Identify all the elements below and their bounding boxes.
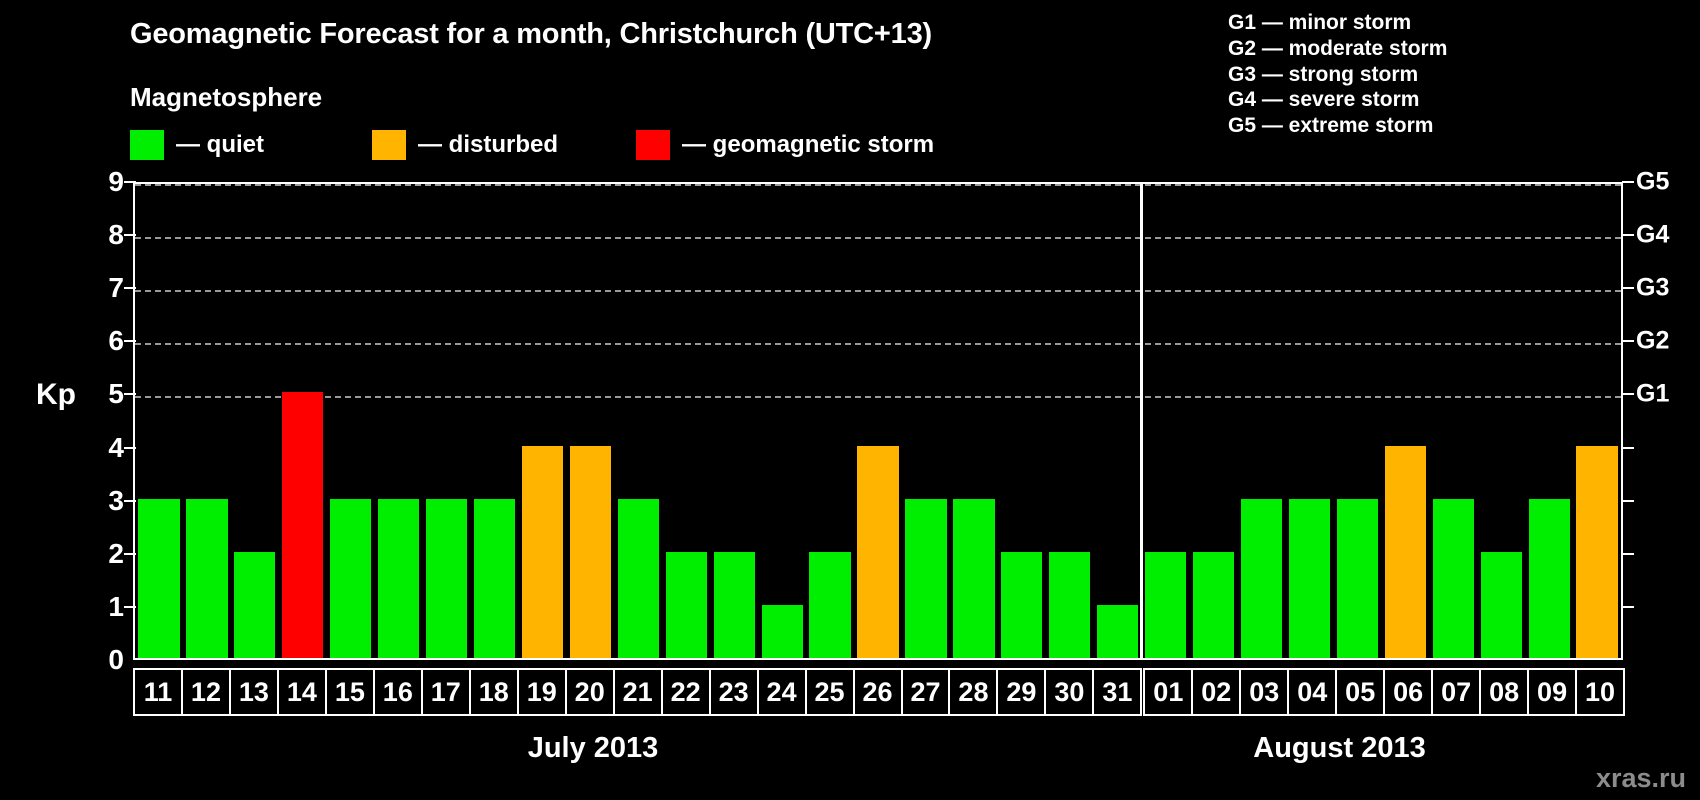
day-label-cell: 12 <box>181 668 231 716</box>
bar-slot <box>614 184 662 658</box>
day-label-cell: 28 <box>948 668 998 716</box>
y-tick-mark-1 <box>124 606 136 608</box>
bar-slot <box>1429 184 1477 658</box>
y-tick-label-0: 0 <box>108 644 124 676</box>
day-label-cell: 17 <box>421 668 471 716</box>
day-label-cell: 02 <box>1191 668 1241 716</box>
bar-slot <box>566 184 614 658</box>
g-tick-label-G3: G3 <box>1636 274 1669 303</box>
y-tick-mark-5 <box>124 393 136 395</box>
bar <box>234 552 275 658</box>
bar <box>1097 605 1138 658</box>
day-label-cell: 07 <box>1431 668 1481 716</box>
g-tick-label-G4: G4 <box>1636 221 1669 250</box>
y-tick-mark-8 <box>124 234 136 236</box>
g-tick-label-G5: G5 <box>1636 168 1669 197</box>
bar-slot <box>1142 184 1190 658</box>
y-tick-mark-6 <box>124 340 136 342</box>
bar <box>282 392 323 658</box>
month-label-august: August 2013 <box>1056 732 1623 765</box>
gscale-row-3: G3 — strong storm <box>1228 62 1447 88</box>
g-tick-mark-kp-9 <box>1622 181 1634 183</box>
day-label-cell: 10 <box>1575 668 1625 716</box>
day-label-cell: 14 <box>277 668 327 716</box>
bar-slot <box>327 184 375 658</box>
bar <box>809 552 850 658</box>
day-label-cell: 13 <box>229 668 279 716</box>
y-tick-mark-4 <box>124 447 136 449</box>
g-tick-mark-kp-2 <box>1622 553 1634 555</box>
day-label-cell: 08 <box>1479 668 1529 716</box>
bar <box>474 499 515 658</box>
watermark: xras.ru <box>1596 763 1686 794</box>
y-axis-labels: 9876543210 <box>78 182 124 660</box>
bar <box>1433 499 1474 658</box>
bar <box>1385 446 1426 658</box>
day-label-cell: 26 <box>853 668 903 716</box>
g-tick-label-G1: G1 <box>1636 380 1669 409</box>
day-label-cell: 05 <box>1335 668 1385 716</box>
y-tick-label-4: 4 <box>108 432 124 464</box>
bar <box>1481 552 1522 658</box>
bar <box>1289 499 1330 658</box>
bar <box>905 499 946 658</box>
y-tick-mark-9 <box>124 181 136 183</box>
gscale-row-1: G1 — minor storm <box>1228 10 1447 36</box>
day-label-cell: 25 <box>805 668 855 716</box>
bar-slot <box>1381 184 1429 658</box>
day-label-cell: 01 <box>1143 668 1193 716</box>
bar <box>1049 552 1090 658</box>
day-label-cell: 21 <box>613 668 663 716</box>
y-tick-mark-3 <box>124 500 136 502</box>
bar-slot <box>1333 184 1381 658</box>
bar-slot <box>854 184 902 658</box>
day-label-cell: 11 <box>133 668 183 716</box>
bar-slot <box>1046 184 1094 658</box>
day-label-cell: 09 <box>1527 668 1577 716</box>
g-tick-mark-kp-5 <box>1622 393 1634 395</box>
day-label-cell: 06 <box>1383 668 1433 716</box>
legend-item-disturbed: — disturbed <box>372 130 558 160</box>
y-tick-label-6: 6 <box>108 325 124 357</box>
y-tick-label-8: 8 <box>108 219 124 251</box>
bar <box>857 446 898 658</box>
y-tick-mark-2 <box>124 553 136 555</box>
bar <box>186 499 227 658</box>
day-label-cell: 04 <box>1287 668 1337 716</box>
g-axis-labels: G5G4G3G2G1 <box>1636 182 1698 660</box>
chart-plot-area <box>133 182 1623 660</box>
bar <box>426 499 467 658</box>
bar-slot <box>1094 184 1142 658</box>
y-tick-label-3: 3 <box>108 485 124 517</box>
bar <box>714 552 755 658</box>
g-tick-mark-kp-7 <box>1622 287 1634 289</box>
bar <box>378 499 419 658</box>
bar-slot <box>806 184 854 658</box>
g-tick-mark-kp-8 <box>1622 234 1634 236</box>
gscale-row-5: G5 — extreme storm <box>1228 113 1447 139</box>
legend-label-disturbed: — disturbed <box>418 131 558 159</box>
legend-swatch-storm <box>636 130 670 160</box>
bar <box>1001 552 1042 658</box>
bar <box>762 605 803 658</box>
bar-slot <box>471 184 519 658</box>
bar-slot <box>998 184 1046 658</box>
day-label-cell: 27 <box>901 668 951 716</box>
y-tick-label-5: 5 <box>108 378 124 410</box>
day-label-cell: 16 <box>373 668 423 716</box>
y-tick-label-2: 2 <box>108 538 124 570</box>
legend-swatch-quiet <box>130 130 164 160</box>
bar <box>1337 499 1378 658</box>
chart-bars <box>135 184 1621 658</box>
y-tick-label-7: 7 <box>108 272 124 304</box>
bar-slot <box>279 184 327 658</box>
day-label-cell: 31 <box>1092 668 1142 716</box>
legend-label-storm: — geomagnetic storm <box>682 131 934 159</box>
bar-slot <box>231 184 279 658</box>
gscale-legend: G1 — minor stormG2 — moderate stormG3 — … <box>1228 10 1447 139</box>
bar-slot <box>423 184 471 658</box>
gscale-row-2: G2 — moderate storm <box>1228 36 1447 62</box>
bar-slot <box>135 184 183 658</box>
day-label-cell: 19 <box>517 668 567 716</box>
g-tick-mark-kp-6 <box>1622 340 1634 342</box>
month-label-july: July 2013 <box>133 732 1053 765</box>
g-tick-mark-kp-4 <box>1622 447 1634 449</box>
month-divider <box>1140 184 1143 658</box>
y-tick-label-9: 9 <box>108 166 124 198</box>
bar-slot <box>1190 184 1238 658</box>
bar <box>618 499 659 658</box>
day-label-cell: 23 <box>709 668 759 716</box>
bar <box>1529 499 1570 658</box>
bar <box>1576 446 1617 658</box>
day-label-cell: 15 <box>325 668 375 716</box>
y-tick-mark-7 <box>124 287 136 289</box>
bar-slot <box>902 184 950 658</box>
magnetosphere-label: Magnetosphere <box>130 82 322 113</box>
g-tick-mark-kp-1 <box>1622 606 1634 608</box>
bar-slot <box>950 184 998 658</box>
day-label-cell: 30 <box>1044 668 1094 716</box>
bar <box>138 499 179 658</box>
bar <box>570 446 611 658</box>
bar-slot <box>183 184 231 658</box>
y-axis-title: Kp <box>36 378 76 412</box>
day-label-cell: 22 <box>661 668 711 716</box>
bar-slot <box>1525 184 1573 658</box>
bar-slot <box>1477 184 1525 658</box>
bar-slot <box>375 184 423 658</box>
bar-slot <box>758 184 806 658</box>
page-title: Geomagnetic Forecast for a month, Christ… <box>130 18 932 51</box>
g-tick-label-G2: G2 <box>1636 327 1669 356</box>
gscale-row-4: G4 — severe storm <box>1228 87 1447 113</box>
bar-slot <box>1573 184 1621 658</box>
bar <box>1193 552 1234 658</box>
bar <box>953 499 994 658</box>
bar-slot <box>710 184 758 658</box>
day-label-cell: 18 <box>469 668 519 716</box>
bar-slot <box>1238 184 1286 658</box>
magnetosphere-legend: — quiet— disturbed— geomagnetic storm <box>130 130 934 160</box>
y-tick-label-1: 1 <box>108 591 124 623</box>
bar <box>1145 552 1186 658</box>
bar-slot <box>1286 184 1334 658</box>
legend-swatch-disturbed <box>372 130 406 160</box>
bar <box>330 499 371 658</box>
g-tick-mark-kp-3 <box>1622 500 1634 502</box>
day-label-cell: 20 <box>565 668 615 716</box>
day-label-cell: 29 <box>996 668 1046 716</box>
x-axis-day-labels: 1112131415161718192021222324252627282930… <box>133 668 1623 716</box>
bar-slot <box>662 184 710 658</box>
day-label-cell: 24 <box>757 668 807 716</box>
bar <box>666 552 707 658</box>
legend-item-quiet: — quiet <box>130 130 264 160</box>
legend-label-quiet: — quiet <box>176 131 264 159</box>
bar <box>1241 499 1282 658</box>
bar <box>522 446 563 658</box>
day-label-cell: 03 <box>1239 668 1289 716</box>
legend-item-storm: — geomagnetic storm <box>636 130 934 160</box>
bar-slot <box>519 184 567 658</box>
